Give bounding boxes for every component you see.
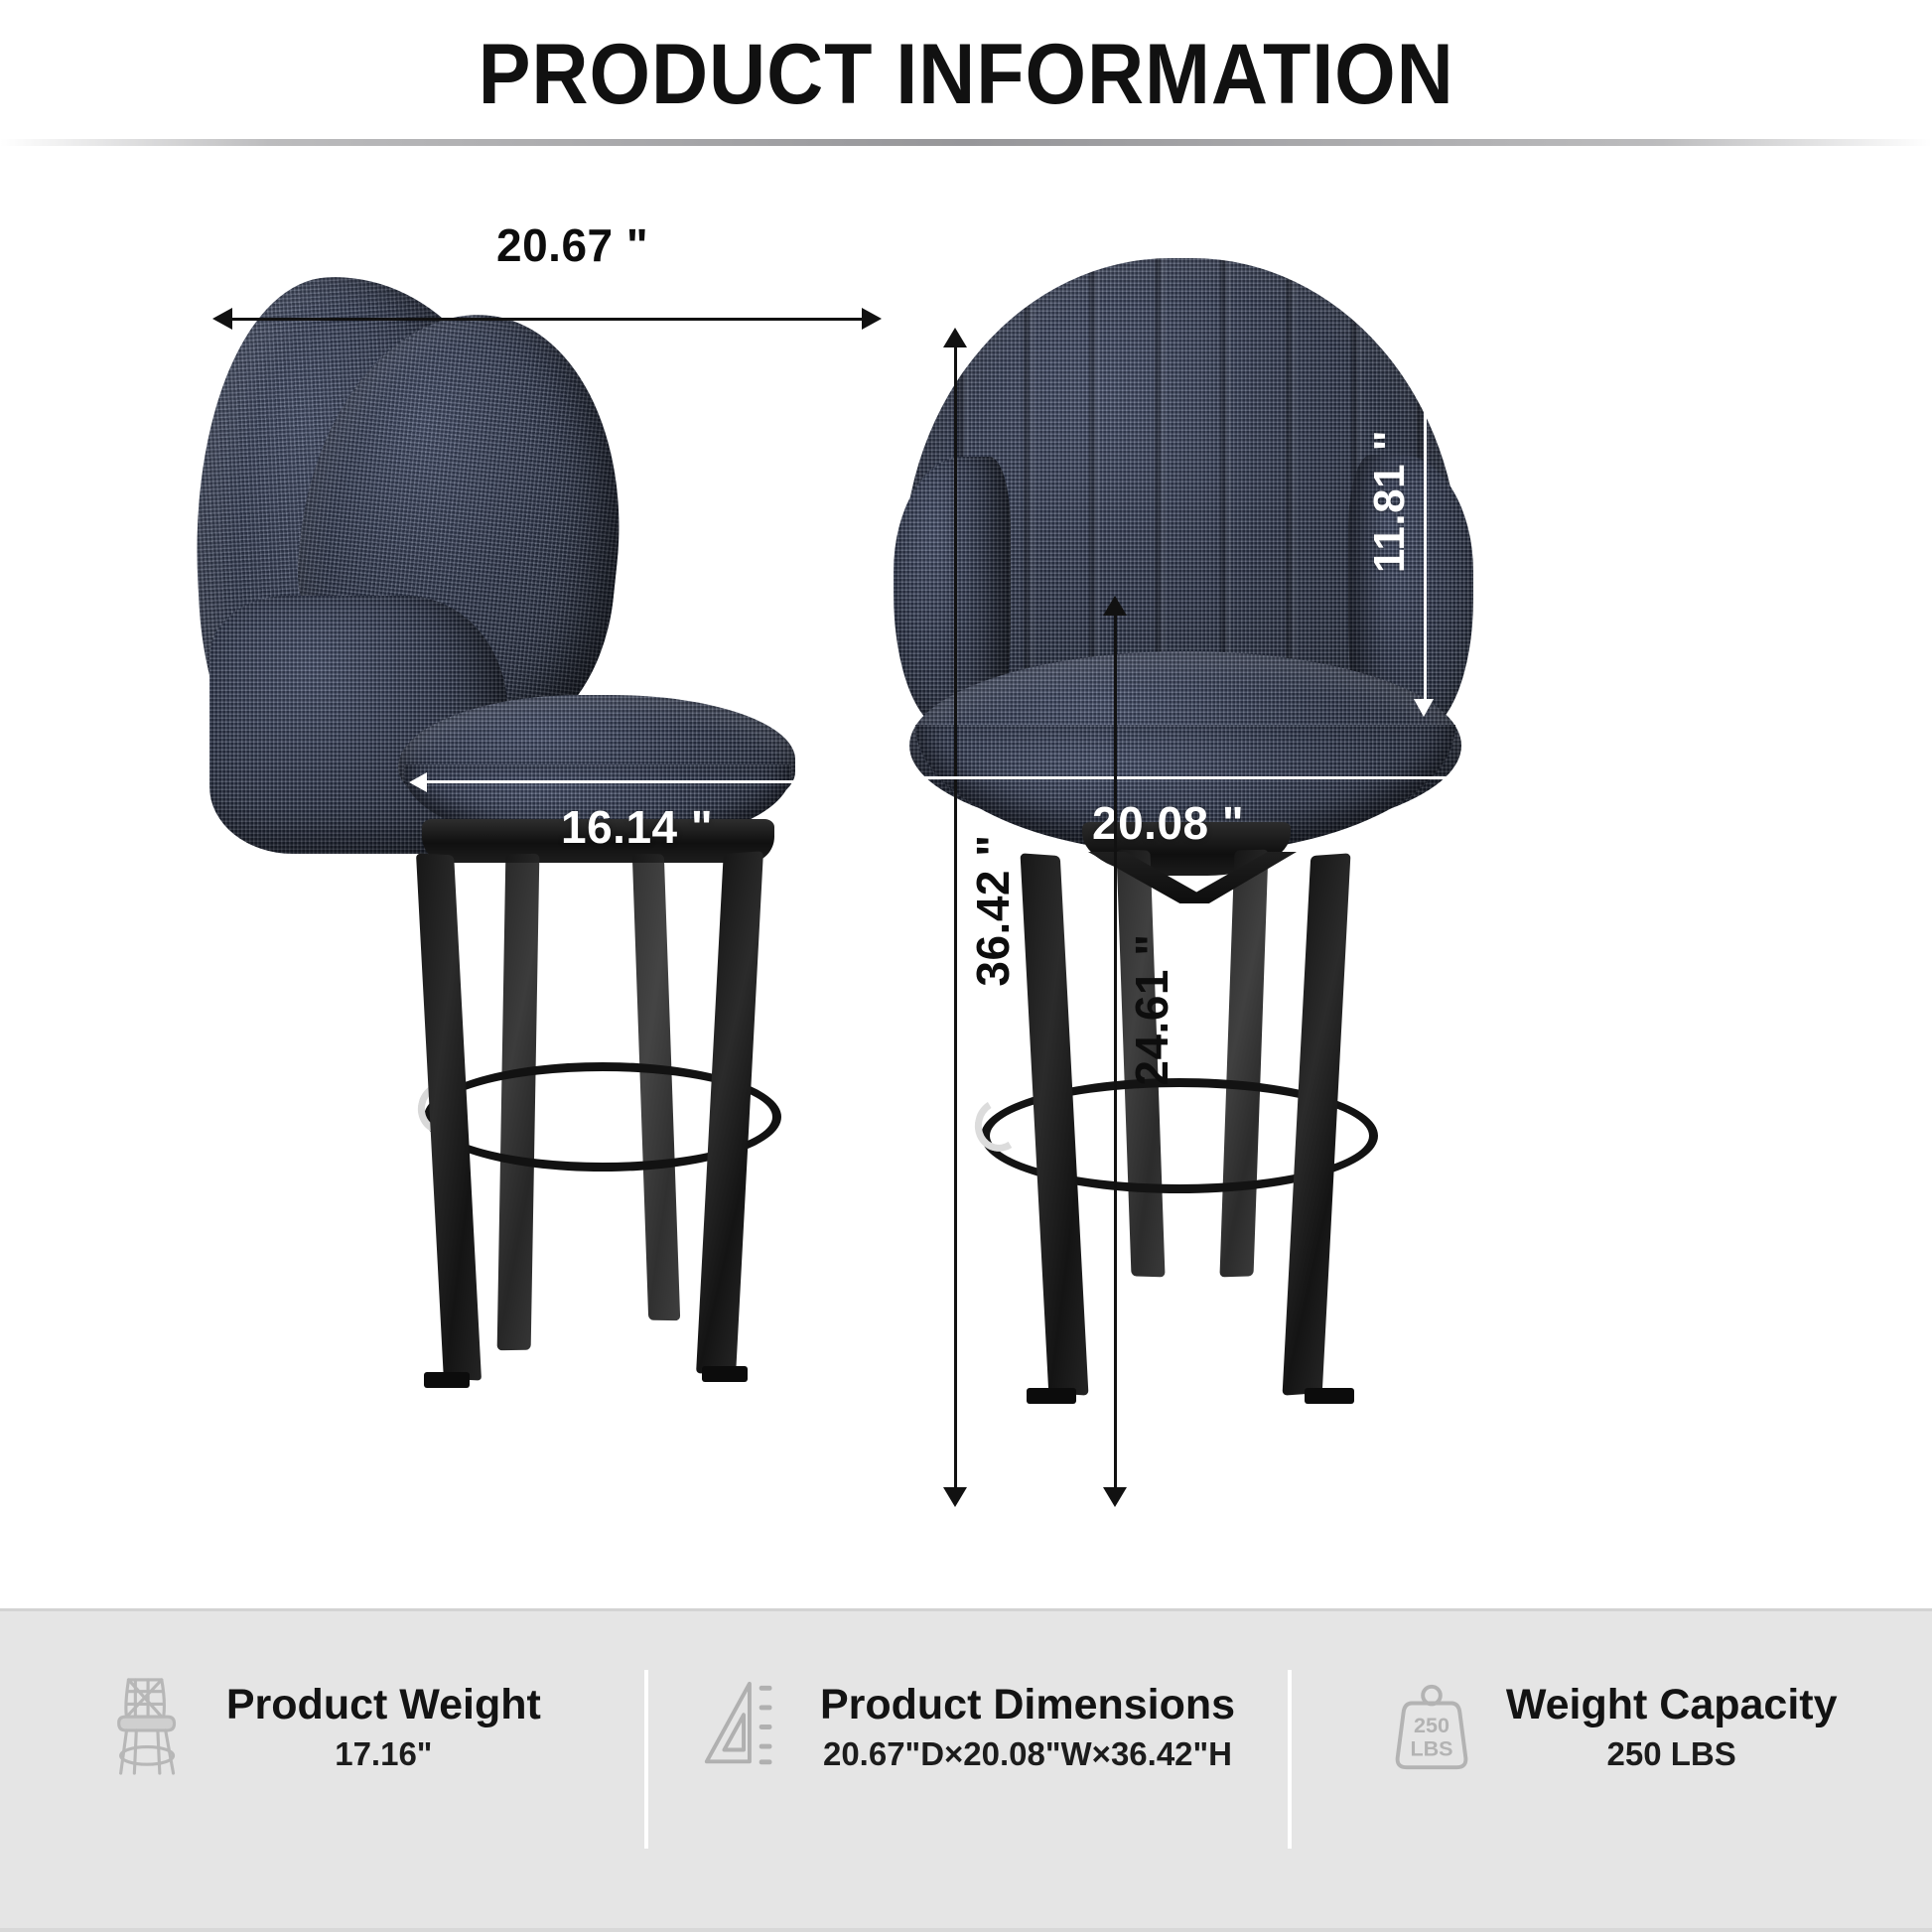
product-image-stage: 20.67 " 16.14 " 36.42 " 11.81 " 20.08 " … xyxy=(0,149,1932,1608)
spec-bar-bottom-border xyxy=(0,1928,1932,1932)
dimension-line-seat-height xyxy=(1114,616,1117,1489)
spec-title-weight-capacity: Weight Capacity xyxy=(1506,1680,1838,1730)
weight-icon-text-top: 250 xyxy=(1414,1713,1449,1737)
dimension-arrowhead-depth-right xyxy=(862,308,882,330)
weight-icon-text-bottom: LBS xyxy=(1410,1735,1452,1760)
dimension-label-back-height: 11.81 " xyxy=(1365,402,1415,601)
weight-250lbs-icon: 250 LBS xyxy=(1383,1672,1480,1781)
stool-foot-right xyxy=(702,1366,748,1382)
dimension-line-seat-depth xyxy=(425,780,852,783)
spec-divider-left xyxy=(644,1670,648,1849)
spec-text-product-weight: Product Weight 17.16" xyxy=(226,1680,541,1774)
spec-text-weight-capacity: Weight Capacity 250 LBS xyxy=(1506,1680,1838,1774)
spec-title-product-dimensions: Product Dimensions xyxy=(820,1680,1235,1730)
dimension-line-back-height xyxy=(1424,304,1427,701)
spec-divider-right xyxy=(1288,1670,1292,1849)
dimension-arrowhead-seat-depth-right xyxy=(850,772,868,792)
dimension-line-seat-width xyxy=(915,776,1459,779)
triangle-ruler-icon xyxy=(697,1672,794,1781)
product-spec-bar: Product Weight 17.16" xyxy=(0,1608,1932,1932)
stool-foot-right-front xyxy=(1305,1388,1354,1404)
stool-leg-rear-right-front-view xyxy=(1219,850,1268,1278)
header-divider xyxy=(0,139,1932,146)
dimension-arrowhead-back-height-top xyxy=(1414,286,1434,304)
spec-item-product-dimensions: Product Dimensions 20.67"D×20.08"W×36.42… xyxy=(644,1608,1289,1781)
dimension-arrowhead-seat-depth-left xyxy=(409,772,427,792)
dimension-label-seat-height: 24.61 " xyxy=(1125,910,1178,1109)
stool-foot-left-front xyxy=(1027,1388,1076,1404)
dimension-arrowhead-total-height-top xyxy=(943,328,967,347)
spec-value-product-dimensions: 20.67"D×20.08"W×36.42"H xyxy=(823,1735,1232,1773)
page-header: PRODUCT INFORMATION xyxy=(0,0,1932,149)
dimension-arrowhead-total-height-bottom xyxy=(943,1487,967,1507)
dimension-arrowhead-seat-width-right xyxy=(1457,768,1475,788)
dimension-label-depth: 20.67 " xyxy=(496,218,648,272)
spec-text-product-dimensions: Product Dimensions 20.67"D×20.08"W×36.42… xyxy=(820,1680,1235,1774)
dimension-arrowhead-depth-left xyxy=(212,308,232,330)
bar-stool-icon xyxy=(103,1672,201,1781)
dimension-arrowhead-back-height-bottom xyxy=(1414,699,1434,717)
spec-value-product-weight: 17.16" xyxy=(335,1735,432,1773)
dimension-line-depth xyxy=(230,318,864,321)
dimension-arrowhead-seat-height-bottom xyxy=(1103,1487,1127,1507)
stool-side-view xyxy=(174,268,789,1440)
spec-item-product-weight: Product Weight 17.16" xyxy=(0,1608,644,1781)
product-information-page: PRODUCT INFORMATION xyxy=(0,0,1932,1932)
page-title: PRODUCT INFORMATION xyxy=(479,26,1454,124)
spec-item-weight-capacity: 250 LBS Weight Capacity 250 LBS xyxy=(1288,1608,1932,1781)
stool-foot-left xyxy=(424,1372,470,1388)
spec-value-weight-capacity: 250 LBS xyxy=(1607,1735,1736,1773)
dimension-line-total-height xyxy=(954,347,957,1489)
dimension-arrowhead-seat-width-left xyxy=(899,768,917,788)
dimension-label-total-height: 36.42 " xyxy=(966,811,1020,1010)
dimension-label-seat-depth: 16.14 " xyxy=(561,800,713,854)
dimension-arrowhead-seat-height-top xyxy=(1103,596,1127,616)
spec-title-product-weight: Product Weight xyxy=(226,1680,541,1730)
